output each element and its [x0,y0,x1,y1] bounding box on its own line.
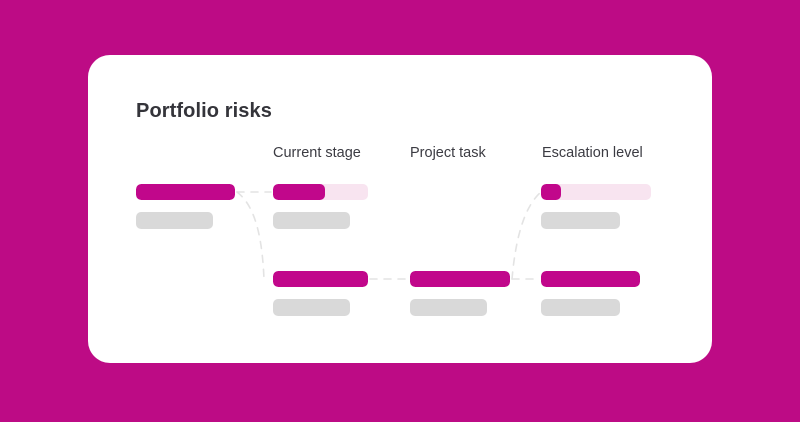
row2-cell-escalation-level[interactable] [541,271,640,316]
row2-escalation-track [541,271,640,287]
row1-current-stage-subbar [273,212,350,229]
row2-current-stage-fill [273,271,368,287]
row2-escalation-fill [541,271,640,287]
portfolio-risks-card: Portfolio risks Current stage Project ta… [88,55,712,363]
row1-escalation-fill [541,184,561,200]
row2-current-stage-track [273,271,368,287]
row2-current-stage-subbar [273,299,350,316]
row1-current-stage-track [273,184,368,200]
connector-row2-to-escalation-row1 [512,192,541,279]
row1-cell-current-stage[interactable] [273,184,368,229]
row1-item-bar-fill [136,184,235,200]
row1-cell-escalation-level[interactable] [541,184,651,229]
row1-escalation-subbar [541,212,620,229]
row2-project-task-track [410,271,510,287]
column-header-project-task: Project task [410,145,486,161]
row2-escalation-subbar [541,299,620,316]
column-header-escalation-level: Escalation level [542,145,643,161]
column-header-current-stage: Current stage [273,145,361,161]
row1-cell-item[interactable] [136,184,235,229]
row1-current-stage-fill [273,184,325,200]
connector-item-to-row2-current-stage [237,192,264,279]
row2-project-task-fill [410,271,510,287]
row2-cell-project-task[interactable] [410,271,510,316]
page-background: Portfolio risks Current stage Project ta… [0,0,800,422]
row1-item-subbar [136,212,213,229]
row2-cell-current-stage[interactable] [273,271,368,316]
row1-escalation-track [541,184,651,200]
page-title: Portfolio risks [136,100,272,123]
row1-item-bar-track [136,184,235,200]
row2-project-task-subbar [410,299,487,316]
